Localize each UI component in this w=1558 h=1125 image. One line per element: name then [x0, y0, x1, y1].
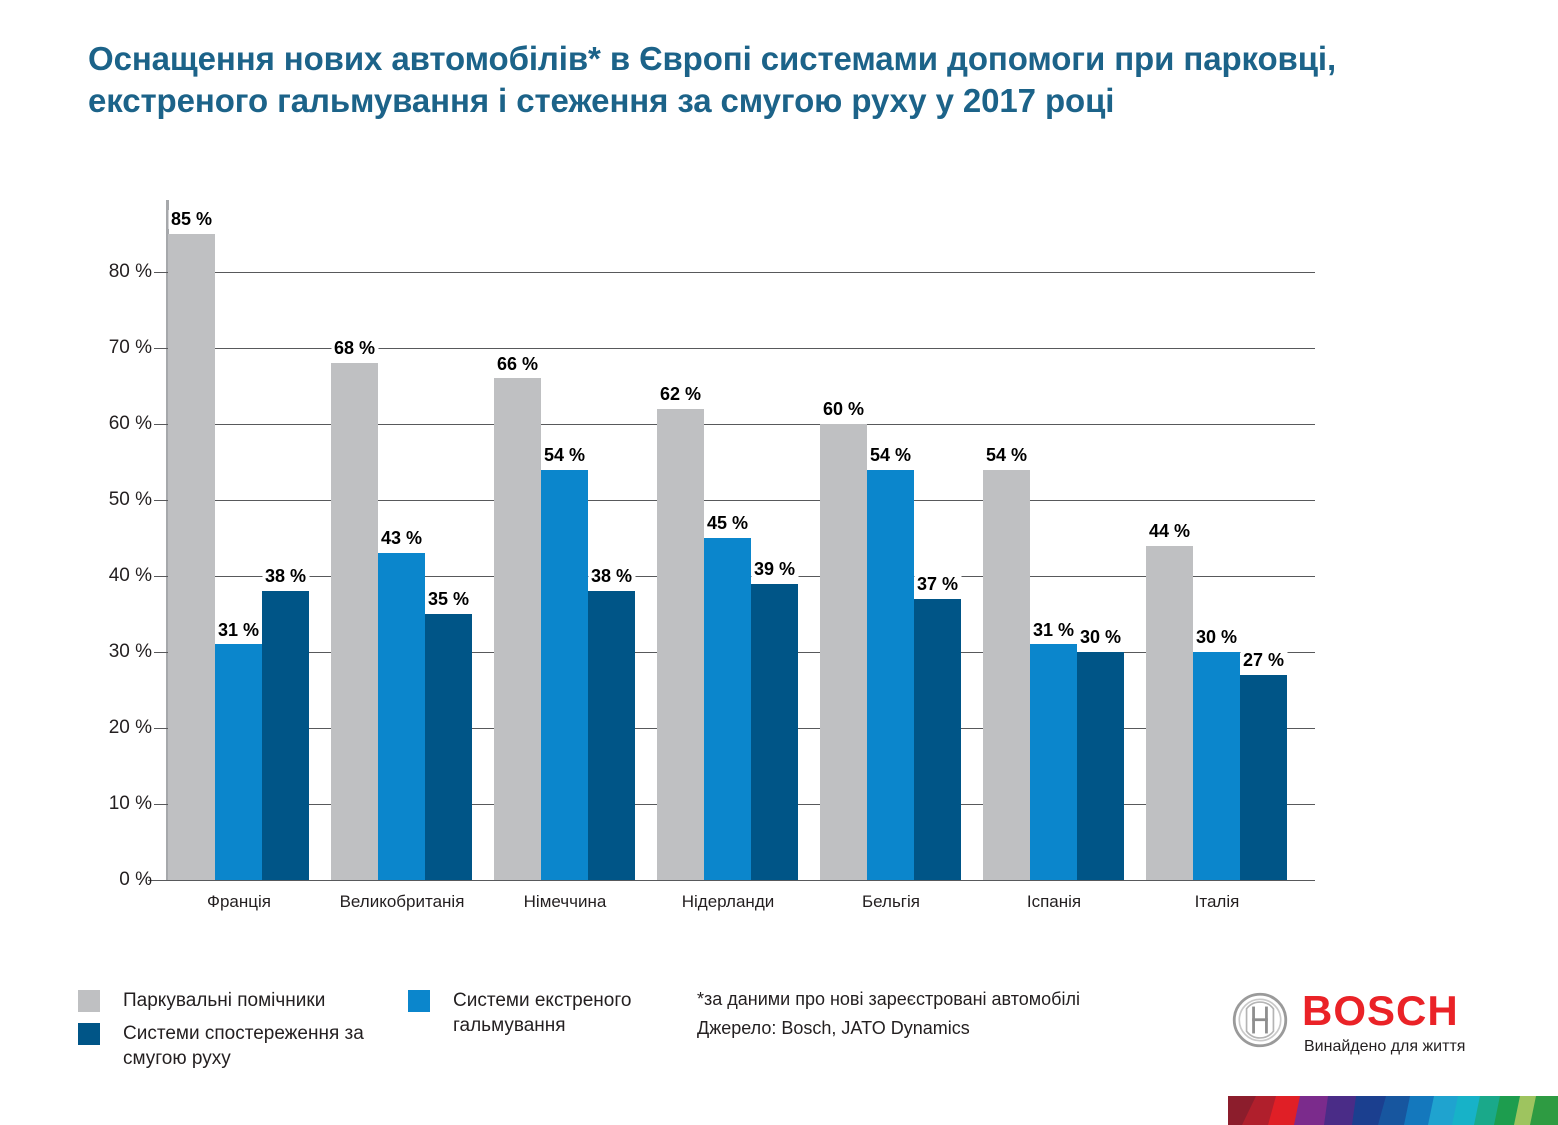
bar-value-label: 54 % — [983, 446, 1030, 465]
legend-column-right: Системи екстреного гальмування — [408, 988, 708, 1046]
legend-swatch — [78, 1023, 100, 1045]
gridline — [148, 880, 1315, 881]
bar[interactable]: 38 % — [262, 591, 309, 880]
y-axis-label: 30 % — [82, 641, 152, 663]
bar[interactable]: 54 % — [867, 470, 914, 880]
bar[interactable]: 62 % — [657, 409, 704, 880]
bar-value-label: 30 % — [1077, 628, 1124, 647]
y-axis-label: 70 % — [82, 337, 152, 359]
bar[interactable]: 60 % — [820, 424, 867, 880]
bar[interactable]: 30 % — [1193, 652, 1240, 880]
bar[interactable]: 68 % — [331, 363, 378, 880]
bar[interactable]: 54 % — [983, 470, 1030, 880]
bar-chart: 80 %70 %60 %50 %40 %30 %20 %10 %0 % 85 %… — [0, 0, 1558, 1125]
bar-value-label: 43 % — [378, 529, 425, 548]
y-axis-label: 60 % — [82, 413, 152, 435]
bar-value-label: 62 % — [657, 385, 704, 404]
footnote: *за даними про нові зареєстровані автомо… — [697, 985, 1217, 1043]
y-axis-label: 0 % — [82, 869, 152, 891]
bar-value-label: 68 % — [331, 339, 378, 358]
x-axis-label: Бельгія — [820, 892, 962, 912]
x-axis-label: Нідерланди — [657, 892, 799, 912]
x-axis-label: Великобританія — [331, 892, 473, 912]
bar[interactable]: 54 % — [541, 470, 588, 880]
x-axis-label: Франція — [168, 892, 310, 912]
bar-value-label: 44 % — [1146, 522, 1193, 541]
legend-label: Системи спостереження за смугою руху — [123, 1021, 378, 1071]
bar[interactable]: 30 % — [1077, 652, 1124, 880]
legend-swatch — [408, 990, 430, 1012]
bar[interactable]: 27 % — [1240, 675, 1287, 880]
legend-swatch — [78, 990, 100, 1012]
bar[interactable]: 31 % — [1030, 644, 1077, 880]
bar-value-label: 35 % — [425, 590, 472, 609]
bar[interactable]: 37 % — [914, 599, 961, 880]
plot-area: 80 %70 %60 %50 %40 %30 %20 %10 %0 % 85 %… — [148, 200, 1315, 880]
bar-group: 68 %43 %35 % — [331, 200, 473, 880]
bar-group: 60 %54 %37 % — [820, 200, 962, 880]
y-axis-label: 10 % — [82, 793, 152, 815]
y-axis-tick — [154, 880, 180, 881]
legend-label: Паркувальні помічники — [123, 988, 378, 1013]
y-axis-label: 40 % — [82, 565, 152, 587]
y-axis-label: 20 % — [82, 717, 152, 739]
legend-item[interactable]: Системи екстреного гальмування — [408, 988, 708, 1038]
bar[interactable]: 45 % — [704, 538, 751, 880]
bar-group: 44 %30 %27 % — [1146, 200, 1288, 880]
bosch-wordmark: BOSCH — [1302, 990, 1459, 1032]
bar-group: 85 %31 %38 % — [168, 200, 310, 880]
bar-group: 62 %45 %39 % — [657, 200, 799, 880]
bar-value-label: 66 % — [494, 355, 541, 374]
slide-root: Оснащення нових автомобілів* в Європі си… — [0, 0, 1558, 1125]
bosch-logo: BOSCH Винайдено для життя — [1232, 990, 1472, 1062]
footnote-line-2: Джерело: Bosch, JATO Dynamics — [697, 1014, 1217, 1043]
legend-label: Системи екстреного гальмування — [453, 988, 708, 1038]
bar-value-label: 45 % — [704, 514, 751, 533]
bar[interactable]: 44 % — [1146, 546, 1193, 880]
bar-value-label: 85 % — [168, 210, 215, 229]
legend-column-left: Паркувальні помічникиСистеми спостережен… — [78, 988, 378, 1079]
bar[interactable]: 85 % — [168, 234, 215, 880]
bosch-tagline: Винайдено для життя — [1304, 1038, 1465, 1056]
x-axis-label: Іспанія — [983, 892, 1125, 912]
bar-value-label: 27 % — [1240, 651, 1287, 670]
bar-value-label: 30 % — [1193, 628, 1240, 647]
bar-value-label: 54 % — [541, 446, 588, 465]
bar-group: 66 %54 %38 % — [494, 200, 636, 880]
bar-value-label: 60 % — [820, 400, 867, 419]
bar-value-label: 54 % — [867, 446, 914, 465]
bar[interactable]: 66 % — [494, 378, 541, 880]
y-axis-label: 80 % — [82, 261, 152, 283]
legend-item[interactable]: Системи спостереження за смугою руху — [78, 1021, 378, 1071]
bar[interactable]: 31 % — [215, 644, 262, 880]
bar-groups: 85 %31 %38 %68 %43 %35 %66 %54 %38 %62 %… — [168, 200, 1315, 880]
footnote-line-1: *за даними про нові зареєстровані автомо… — [697, 985, 1217, 1014]
y-axis-label: 50 % — [82, 489, 152, 511]
bar-value-label: 31 % — [1030, 621, 1077, 640]
bar-value-label: 31 % — [215, 621, 262, 640]
bar-value-label: 38 % — [262, 567, 309, 586]
bar[interactable]: 35 % — [425, 614, 472, 880]
bar[interactable]: 39 % — [751, 584, 798, 880]
bosch-supergraphic — [1228, 1096, 1558, 1125]
bar[interactable]: 38 % — [588, 591, 635, 880]
bar-value-label: 37 % — [914, 575, 961, 594]
bosch-anchor-icon — [1232, 992, 1288, 1048]
x-axis-label: Італія — [1146, 892, 1288, 912]
legend-item[interactable]: Паркувальні помічники — [78, 988, 378, 1013]
bar-value-label: 39 % — [751, 560, 798, 579]
bar[interactable]: 43 % — [378, 553, 425, 880]
bar-group: 54 %31 %30 % — [983, 200, 1125, 880]
x-axis-label: Німеччина — [494, 892, 636, 912]
bar-value-label: 38 % — [588, 567, 635, 586]
